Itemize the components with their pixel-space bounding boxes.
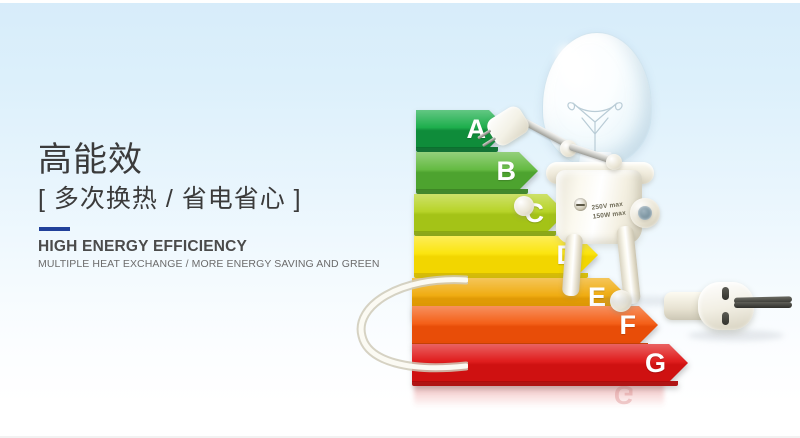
- energy-grade-label: G: [645, 350, 666, 377]
- power-cable: [348, 262, 468, 382]
- robot-knee-joint-left: [514, 196, 534, 216]
- plug-shadow: [688, 330, 784, 341]
- reflection-letter-g: G: [600, 384, 648, 410]
- energy-grade-label: B: [497, 158, 517, 185]
- light-bulb-robot: 250V max 150W max: [520, 28, 710, 258]
- plug-pin-lower: [734, 302, 792, 308]
- energy-efficiency-banner: 高能效 [ 多次换热 / 省电省心 ] HIGH ENERGY EFFICIEN…: [0, 0, 800, 438]
- plug-socket-hole: [722, 287, 729, 300]
- floor-power-plug: [664, 276, 792, 338]
- robot-shoulder-pin: [638, 206, 652, 220]
- energy-grade-label: F: [620, 312, 637, 339]
- screw-icon: [574, 198, 587, 211]
- energy-grade-label: A: [467, 116, 487, 143]
- robot-shoulder-joint: [606, 154, 622, 170]
- plug-socket-hole: [722, 312, 729, 325]
